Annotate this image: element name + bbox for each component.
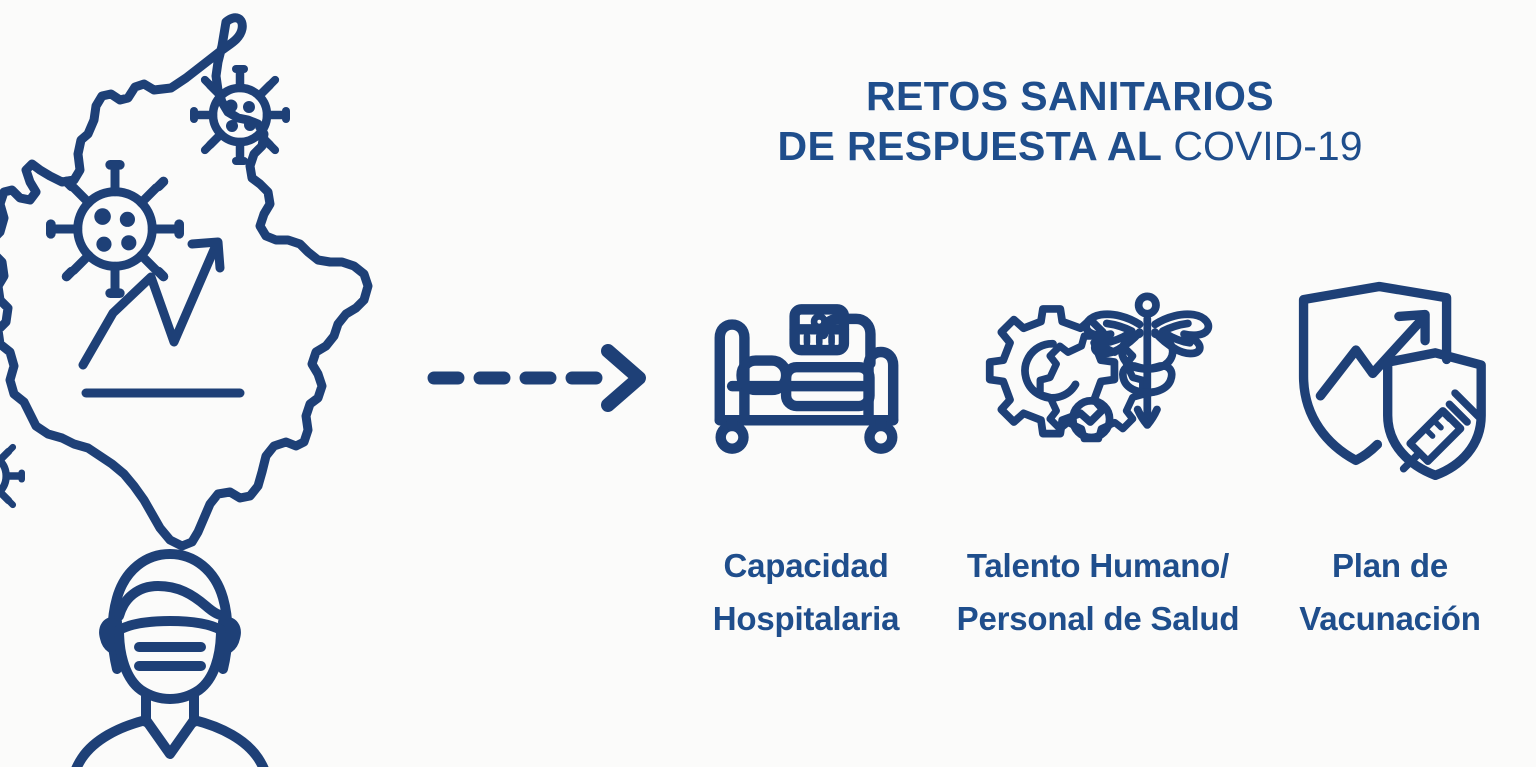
caduceus-finial <box>1139 296 1156 313</box>
title-covid-label: COVID-19 <box>1173 123 1362 169</box>
arrow-head <box>608 351 639 405</box>
pillar-plan-vacunacion: Plan de Vacunación <box>1244 272 1536 646</box>
pillars-row: Capacidad Hospitalaria <box>660 272 1536 672</box>
gears-caduceus-icon <box>977 272 1219 487</box>
colombia-illustration <box>0 0 408 767</box>
pillar-label-talento-humano: Talento Humano/ Personal de Salud <box>957 539 1240 646</box>
pillar-capacidad-hospitalaria: Capacidad Hospitalaria <box>660 272 952 646</box>
hospital-bed-icon <box>697 272 915 487</box>
masked-health-worker-icon <box>70 554 270 767</box>
title-line-2-bold: DE RESPUESTA AL <box>777 123 1161 169</box>
page-title: RETOS SANITARIOS DE RESPUESTA AL COVID-1… <box>700 72 1440 171</box>
pillar-label-capacidad-hospitalaria: Capacidad Hospitalaria <box>713 539 900 646</box>
title-line-1: RETOS SANITARIOS <box>700 72 1440 120</box>
colombia-map-path <box>0 18 368 546</box>
virus-icon-2 <box>46 160 184 298</box>
pillar-talento-humano: Talento Humano/ Personal de Salud <box>952 272 1244 646</box>
virus-icon-3 <box>0 435 25 517</box>
pillar-label-plan-vacunacion: Plan de Vacunación <box>1299 539 1480 646</box>
shield-syringe-icon <box>1283 272 1498 487</box>
dashed-arrow <box>424 338 656 418</box>
infographic-canvas: RETOS SANITARIOS DE RESPUESTA AL COVID-1… <box>0 0 1536 767</box>
title-line-2: DE RESPUESTA AL COVID-19 <box>700 122 1440 170</box>
